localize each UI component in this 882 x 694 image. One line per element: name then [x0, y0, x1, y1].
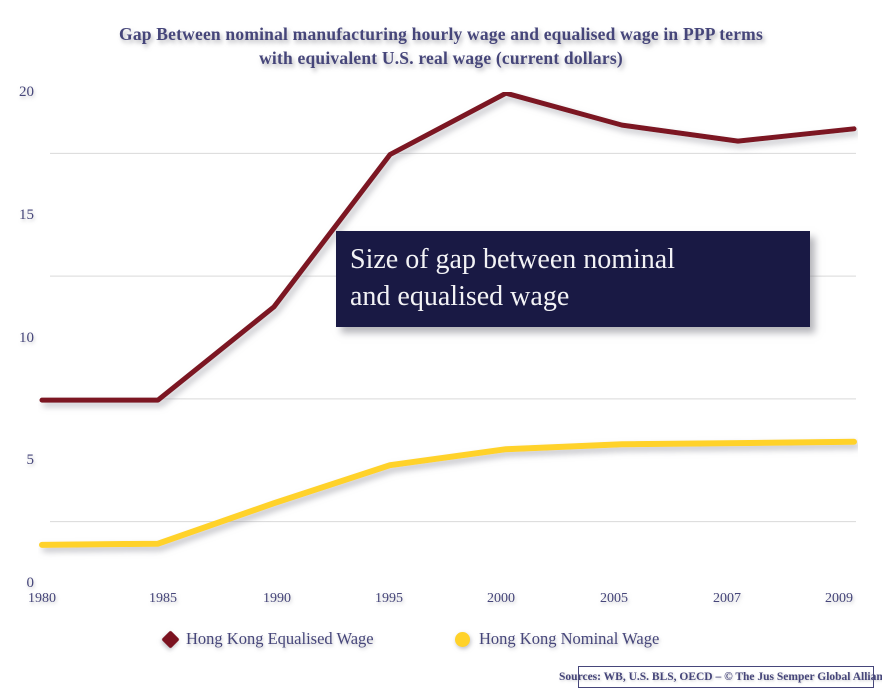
gap-callout-line-2: and equalised wage: [350, 278, 796, 315]
source-box: Sources: WB, U.S. BLS, OECD – © The Jus …: [578, 666, 874, 688]
gridlines: [50, 153, 856, 521]
x-tick-2005: 2005: [584, 592, 644, 606]
y-tick-20: 20: [0, 85, 34, 100]
x-tick-2000: 2000: [471, 592, 531, 606]
x-tick-2007: 2007: [697, 592, 757, 606]
chart-figure: Gap Between nominal manufacturing hourly…: [0, 0, 882, 694]
plot-svg: [38, 92, 858, 583]
circle-marker-icon: [455, 632, 470, 647]
legend-item-equalised[interactable]: Hong Kong Equalised Wage: [164, 630, 374, 648]
source-text: Sources: WB, U.S. BLS, OECD – © The Jus …: [559, 671, 882, 683]
x-tick-1990: 1990: [247, 592, 307, 606]
x-tick-1980: 1980: [12, 592, 72, 606]
x-tick-2009: 2009: [809, 592, 869, 606]
y-tick-0: 0: [0, 576, 34, 591]
gap-callout: Size of gap between nominal and equalise…: [336, 231, 810, 327]
y-tick-5: 5: [0, 453, 34, 468]
legend-label-nominal: Hong Kong Nominal Wage: [479, 630, 659, 648]
y-tick-10: 10: [0, 331, 34, 346]
plot-area: [38, 92, 858, 583]
chart-legend: Hong Kong Equalised Wage Hong Kong Nomin…: [150, 630, 750, 656]
diamond-marker-icon: [161, 630, 179, 648]
chart-title: Gap Between nominal manufacturing hourly…: [60, 22, 822, 70]
legend-label-equalised: Hong Kong Equalised Wage: [186, 630, 374, 648]
x-tick-1985: 1985: [133, 592, 193, 606]
legend-item-nominal[interactable]: Hong Kong Nominal Wage: [455, 630, 659, 648]
chart-title-line-2: with equivalent U.S. real wage (current …: [60, 46, 822, 70]
chart-title-line-1: Gap Between nominal manufacturing hourly…: [60, 22, 822, 46]
x-tick-1995: 1995: [359, 592, 419, 606]
series-line-nominal: [42, 442, 854, 545]
y-tick-15: 15: [0, 208, 34, 223]
gap-callout-line-1: Size of gap between nominal: [350, 241, 796, 278]
